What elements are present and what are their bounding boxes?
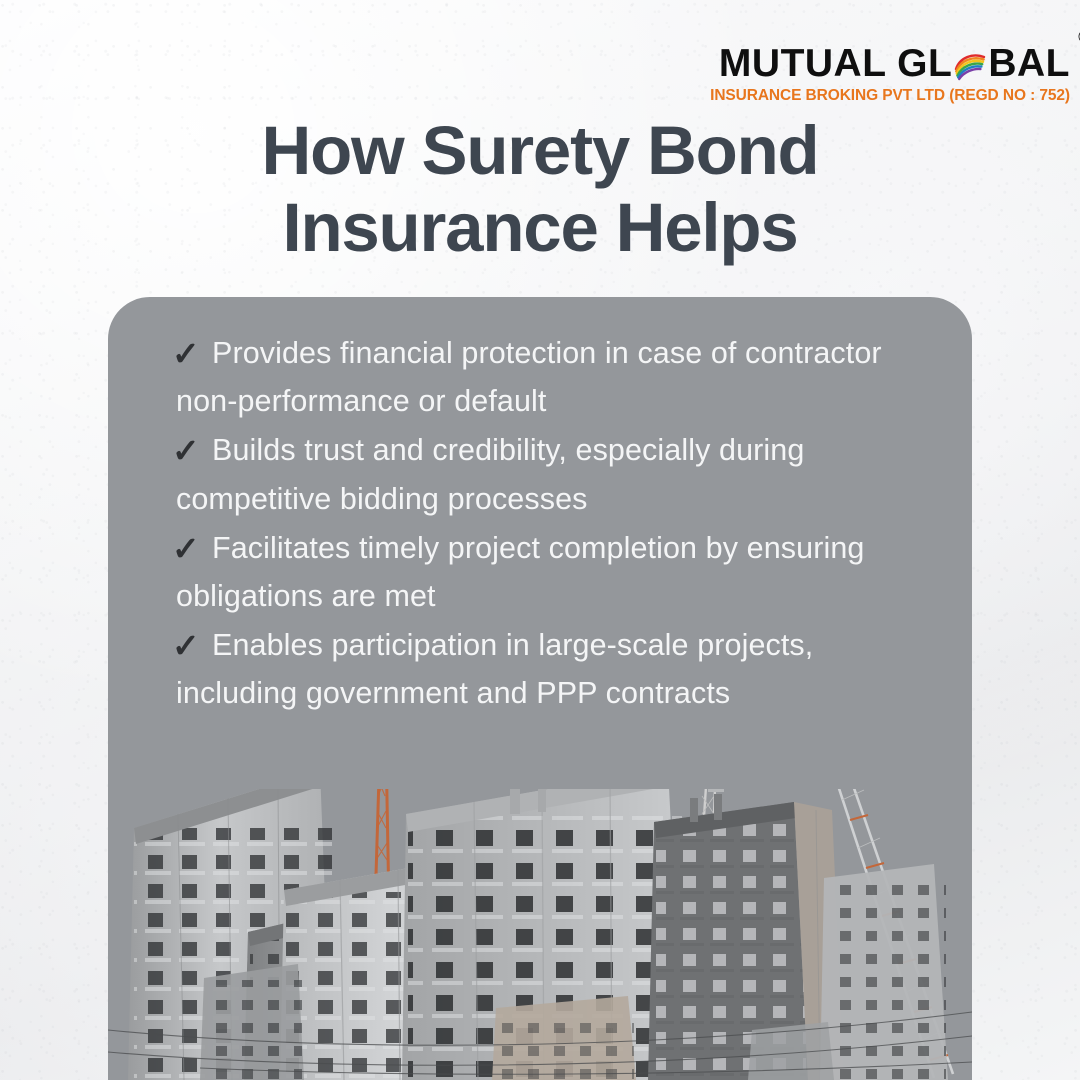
- page-title: How Surety Bond Insurance Helps: [0, 112, 1080, 267]
- check-mark-icon: ✓: [174, 629, 208, 662]
- list-item: ✓Builds trust and credibility, especiall…: [176, 426, 938, 522]
- poster-canvas: MUTUAL GL BAL® INSURANCE BROKING PVT LTD…: [0, 0, 1080, 1080]
- list-item-text: Builds trust and credibility, especially…: [176, 433, 804, 515]
- brand-wordmark-part2: BAL: [988, 42, 1070, 85]
- list-item: ✓Enables participation in large-scale pr…: [176, 621, 938, 717]
- list-item: ✓Provides financial protection in case o…: [176, 329, 938, 425]
- list-item-text: Provides financial protection in case of…: [176, 336, 882, 418]
- page-title-line-2: Insurance Helps: [0, 189, 1080, 266]
- brand-wordmark-part1: MUTUAL GL: [719, 42, 952, 85]
- check-mark-icon: ✓: [174, 434, 208, 467]
- list-item: ✓Facilitates timely project completion b…: [176, 524, 938, 620]
- benefits-list: ✓Provides financial protection in case o…: [108, 297, 972, 719]
- page-title-line-1: How Surety Bond: [0, 112, 1080, 189]
- brand-wordmark: MUTUAL GL BAL®: [719, 44, 1070, 83]
- list-item-text: Enables participation in large-scale pro…: [176, 628, 813, 710]
- brand-logo[interactable]: MUTUAL GL BAL® INSURANCE BROKING PVT LTD…: [710, 44, 1070, 104]
- brand-tagline: INSURANCE BROKING PVT LTD (REGD NO : 752…: [710, 88, 1070, 104]
- check-mark-icon: ✓: [174, 337, 208, 370]
- check-mark-icon: ✓: [174, 532, 208, 565]
- rainbow-swirl-globe-icon: [953, 48, 987, 82]
- list-item-text: Facilitates timely project completion by…: [176, 531, 864, 613]
